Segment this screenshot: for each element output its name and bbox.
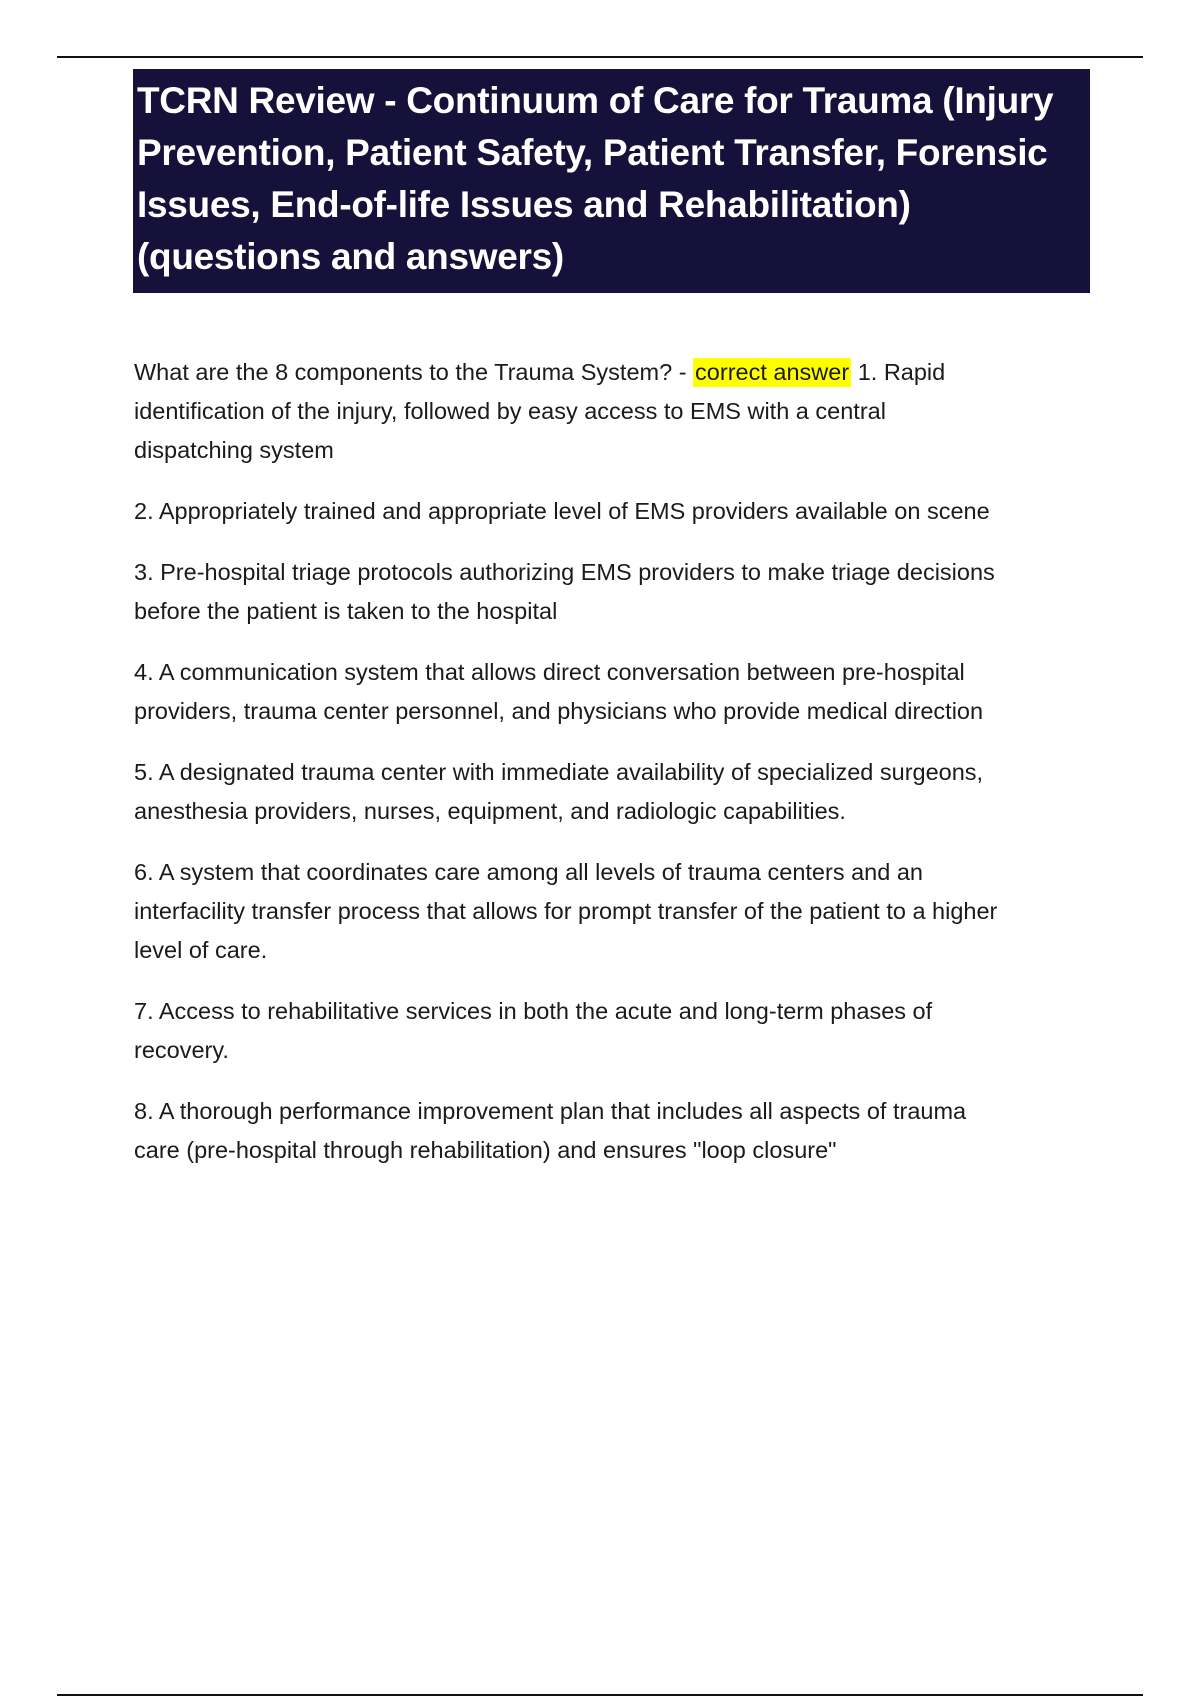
answer-item: 4. A communication system that allows di…	[134, 653, 1006, 731]
answer-item: 3. Pre-hospital triage protocols authori…	[134, 553, 1006, 631]
page-top-rule	[57, 56, 1143, 58]
answer-item: 7. Access to rehabilitative services in …	[134, 992, 1006, 1070]
page-title: TCRN Review - Continuum of Care for Trau…	[137, 75, 1090, 283]
correct-answer-highlight: correct answer	[693, 358, 851, 387]
answer-item: 2. Appropriately trained and appropriate…	[134, 492, 1006, 531]
answer-item: 5. A designated trauma center with immed…	[134, 753, 1006, 831]
answer-item: 6. A system that coordinates care among …	[134, 853, 1006, 970]
question-answer-paragraph: What are the 8 components to the Trauma …	[134, 353, 1006, 470]
answer-item: 8. A thorough performance improvement pl…	[134, 1092, 1006, 1170]
page-bottom-rule	[57, 1694, 1143, 1696]
document-title-banner: TCRN Review - Continuum of Care for Trau…	[133, 69, 1090, 293]
document-page: TCRN Review - Continuum of Care for Trau…	[0, 0, 1200, 1700]
question-text: What are the 8 components to the Trauma …	[134, 359, 687, 385]
document-body: What are the 8 components to the Trauma …	[134, 353, 1006, 1170]
